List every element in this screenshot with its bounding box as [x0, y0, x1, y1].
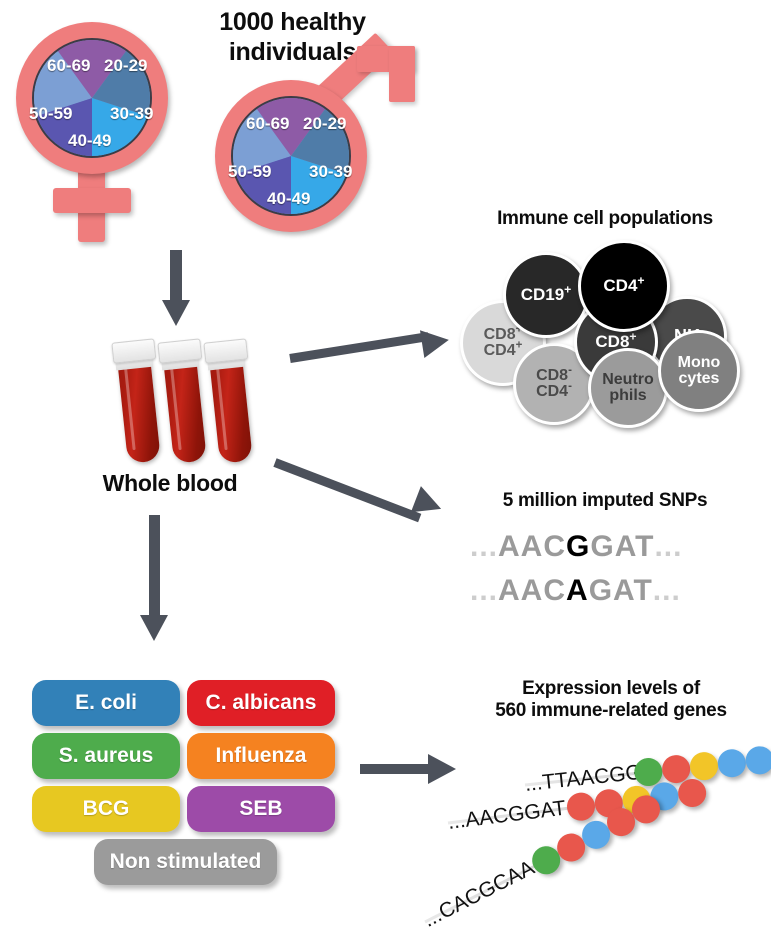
snp-ellipsis-right: ...: [654, 530, 682, 564]
blood-tube-highlight: [123, 363, 135, 450]
female-symbol-crossbar: [53, 188, 131, 213]
stimulation-pill-seb[interactable]: SEB: [187, 786, 335, 832]
stimulation-pill-influenza[interactable]: Influenza: [187, 733, 335, 779]
immune-cell-label: CD19+: [521, 286, 572, 303]
dna-sequence-text: ...AACGGAT: [447, 797, 568, 835]
immune-cell-cd4: CD4+: [578, 240, 670, 332]
snp-sequence-row: ...AACGGAT...: [470, 530, 682, 564]
expression-heading-line1: Expression levels of: [455, 678, 767, 700]
stimulation-panel: E. coli C. albicans S. aureus Influenza …: [32, 680, 342, 895]
arrow-head: [162, 300, 190, 326]
pie-label-50-59: 50-59: [29, 104, 72, 124]
arrow-shaft: [170, 250, 182, 304]
blood-tube-highlight: [169, 363, 181, 450]
male-symbol: 20-29 30-39 40-49 50-59 60-69: [205, 38, 420, 243]
blood-tube: [208, 349, 253, 464]
arrow-cohort-to-blood: [160, 250, 192, 326]
pie-label-20-29: 20-29: [104, 56, 147, 76]
immune-cell-cluster: CD19+ CD4+ NK CD8+ CD8+ CD4+ CD8- CD4-: [460, 240, 760, 420]
dna-sequence-text: ...CACGCAA: [420, 856, 539, 932]
stimulation-pill-c-albicans[interactable]: C. albicans: [187, 680, 335, 726]
stimulation-pill-bcg[interactable]: BCG: [32, 786, 180, 832]
immune-cell-cd19: CD19+: [503, 252, 589, 338]
pie-label-20-29: 20-29: [303, 114, 346, 134]
immune-cell-label: CD4+: [603, 277, 644, 294]
pie-label-40-49: 40-49: [267, 189, 310, 209]
arrow-shaft: [273, 458, 421, 522]
snp-variant-allele: A: [566, 574, 589, 608]
dna-strand-group: ...TTAACGG ...AACGGAT ...CACGCAA: [440, 740, 771, 915]
immune-cell-neutrophils: Neutrophils: [588, 348, 668, 428]
snp-prefix: AAC: [498, 574, 566, 608]
immune-cell-label: CD8+ CD4+: [484, 327, 523, 360]
arrow-blood-to-stimulations: [135, 515, 177, 645]
snp-variant-allele: G: [566, 530, 590, 564]
figure-canvas: 1000 healthy individuals 20-29 30-39 40-…: [0, 0, 771, 922]
snps-heading: 5 million imputed SNPs: [455, 490, 755, 512]
immune-cell-label: CD8- CD4-: [536, 368, 572, 401]
dna-bead: [744, 745, 771, 776]
stimulation-pill-non-stimulated[interactable]: Non stimulated: [94, 839, 277, 885]
pie-label-60-69: 60-69: [246, 114, 289, 134]
snp-sequence-block: ...AACGGAT... ...AACAGAT...: [470, 530, 750, 620]
pie-label-30-39: 30-39: [309, 162, 352, 182]
snp-ellipsis-right: ...: [653, 574, 681, 608]
dna-bead: [716, 748, 747, 779]
male-symbol-arrow-head-vert: [389, 46, 415, 102]
immune-cell-monocytes: Monocytes: [658, 330, 740, 412]
immune-cell-label: Neutrophils: [602, 372, 654, 405]
blood-tube: [116, 349, 161, 464]
blood-tube: [162, 349, 207, 464]
pie-label-50-59: 50-59: [228, 162, 271, 182]
snp-ellipsis-left: ...: [470, 530, 498, 564]
snp-sequence-row: ...AACAGAT...: [470, 574, 681, 608]
expression-heading-line2: 560 immune-related genes: [455, 700, 767, 722]
stimulation-pill-s-aureus[interactable]: S. aureus: [32, 733, 180, 779]
arrow-blood-to-snps: [275, 450, 455, 540]
snp-ellipsis-left: ...: [470, 574, 498, 608]
arrow-head: [420, 326, 451, 358]
pie-label-40-49: 40-49: [68, 131, 111, 151]
expression-heading: Expression levels of 560 immune-related …: [455, 678, 767, 723]
arrow-shaft: [360, 764, 432, 774]
immune-cell-label: Monocytes: [678, 355, 721, 388]
arrow-blood-to-immune: [290, 330, 460, 376]
whole-blood-label: Whole blood: [70, 470, 270, 497]
immune-heading: Immune cell populations: [455, 208, 755, 230]
arrow-shaft: [289, 332, 429, 363]
snp-suffix: GAT: [590, 530, 654, 564]
arrow-head: [140, 615, 168, 641]
blood-tube-highlight: [215, 363, 227, 450]
snp-suffix: GAT: [589, 574, 653, 608]
pie-label-60-69: 60-69: [47, 56, 90, 76]
stimulation-pill-e-coli[interactable]: E. coli: [32, 680, 180, 726]
arrow-shaft: [149, 515, 160, 620]
pie-label-30-39: 30-39: [110, 104, 153, 124]
female-symbol: 20-29 30-39 40-49 50-59 60-69: [8, 14, 183, 244]
snp-prefix: AAC: [498, 530, 566, 564]
